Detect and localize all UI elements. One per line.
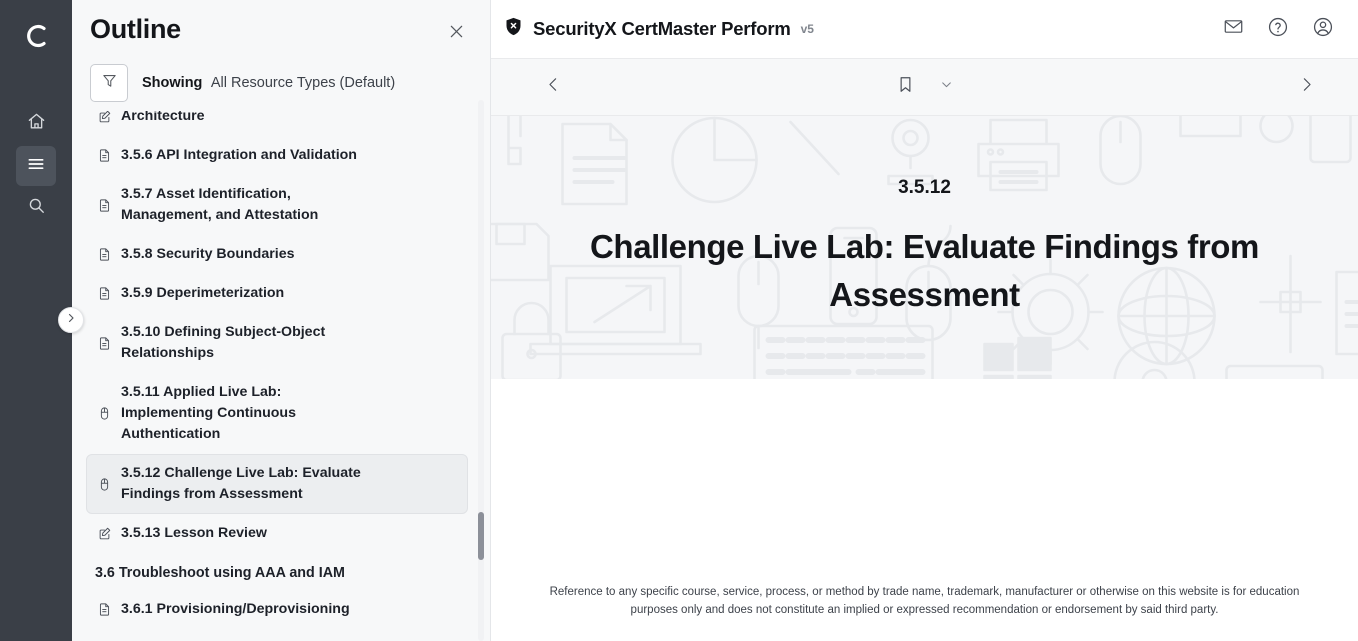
outline-scrollbar-thumb[interactable]	[478, 512, 484, 560]
lesson-title: Challenge Live Lab: Evaluate Findings fr…	[545, 223, 1305, 319]
list-item-label: 3.6.1 Provisioning/Deprovisioning	[121, 599, 350, 620]
mail-button[interactable]	[1220, 16, 1246, 42]
list-item[interactable]: 3.5.11 Applied Live Lab: Implementing Co…	[86, 373, 468, 454]
document-icon	[96, 198, 112, 213]
showing-value[interactable]: All Resource Types (Default)	[211, 75, 395, 91]
document-icon	[96, 148, 112, 163]
chevron-right-icon	[1298, 76, 1315, 98]
pencil-square-icon	[96, 526, 112, 541]
shield-x-icon	[503, 16, 524, 42]
user-account-icon	[1312, 16, 1334, 43]
list-item-label: Architecture	[121, 111, 205, 127]
filter-button[interactable]	[90, 64, 128, 102]
topbar-actions	[1220, 16, 1336, 42]
outline-panel: Outline Showing All Resource Typ	[72, 0, 491, 641]
close-icon	[447, 22, 466, 46]
panel-collapse-toggle[interactable]	[58, 307, 84, 333]
chevron-down-icon	[940, 78, 953, 96]
content-navbar	[491, 58, 1358, 116]
lesson-number: 3.5.12	[898, 177, 951, 199]
brand: SecurityX CertMaster Perform v5	[503, 16, 814, 42]
close-outline-button[interactable]	[442, 20, 470, 48]
footer-disclaimer: Reference to any specific course, servic…	[491, 583, 1358, 619]
previous-page-button[interactable]	[539, 73, 567, 101]
rail-item-search[interactable]	[16, 188, 56, 228]
chevron-right-icon	[65, 311, 77, 329]
app-root: Outline Showing All Resource Typ	[0, 0, 1358, 641]
lesson-hero-banner: 3.5.12 Challenge Live Lab: Evaluate Find…	[491, 116, 1358, 379]
list-item-label: 3.5.10 Defining Subject-Object Relations…	[121, 322, 376, 364]
list-item[interactable]: 3.5.10 Defining Subject-Object Relations…	[86, 313, 468, 373]
help-question-icon	[1267, 16, 1289, 43]
home-icon	[27, 112, 46, 136]
list-item-selected[interactable]: 3.5.12 Challenge Live Lab: Evaluate Find…	[86, 454, 468, 514]
bookmark-dropdown-button[interactable]	[937, 77, 957, 97]
document-icon	[96, 602, 112, 617]
hamburger-menu-icon	[26, 154, 46, 179]
page-title: Outline	[90, 14, 181, 45]
list-item-label: 3.5.7 Asset Identification, Management, …	[121, 184, 376, 226]
list-item-label: 3.5.6 API Integration and Validation	[121, 145, 357, 166]
showing-label: Showing	[142, 75, 202, 91]
comptia-c-logo[interactable]	[14, 14, 58, 58]
pencil-square-icon	[96, 111, 112, 124]
document-icon	[96, 247, 112, 262]
bookmark-icon	[896, 75, 915, 99]
list-item[interactable]: 3.5.9 Deperimeterization	[86, 274, 468, 313]
app-topbar: SecurityX CertMaster Perform v5	[491, 0, 1358, 58]
lesson-body: Reference to any specific course, servic…	[491, 379, 1358, 641]
bookmark-controls	[893, 74, 957, 100]
filter-row: Showing All Resource Types (Default)	[72, 48, 490, 102]
outline-section-header[interactable]: 3.6 Troubleshoot using AAA and IAM	[86, 553, 468, 590]
list-item[interactable]: 3.5.13 Lesson Review	[86, 514, 468, 553]
document-icon	[96, 336, 112, 351]
help-button[interactable]	[1265, 16, 1291, 42]
mouse-icon	[96, 477, 112, 492]
list-item[interactable]: 3.6.1 Provisioning/Deprovisioning	[86, 590, 468, 629]
product-version: v5	[801, 22, 814, 36]
list-item-label: 3.5.13 Lesson Review	[121, 523, 267, 544]
list-item[interactable]: 3.5.7 Asset Identification, Management, …	[86, 175, 468, 235]
chevron-left-icon	[545, 76, 562, 98]
rail-item-home[interactable]	[16, 104, 56, 144]
list-item-label: 3.5.12 Challenge Live Lab: Evaluate Find…	[121, 463, 376, 505]
filter-funnel-icon	[101, 72, 118, 94]
search-icon	[27, 196, 46, 220]
showing-row: Showing All Resource Types (Default)	[142, 74, 395, 92]
list-item-label: 3.5.8 Security Boundaries	[121, 244, 294, 265]
list-item[interactable]: 3.5.8 Security Boundaries	[86, 235, 468, 274]
outline-header: Outline	[72, 0, 490, 48]
outline-tree[interactable]: Architecture 3.5.6 API Integration and V…	[72, 111, 490, 641]
rail-item-outline[interactable]	[16, 146, 56, 186]
list-item[interactable]: Architecture	[86, 111, 468, 136]
main-content: SecurityX CertMaster Perform v5	[491, 0, 1358, 641]
list-item-label: 3.5.9 Deperimeterization	[121, 283, 284, 304]
document-icon	[96, 286, 112, 301]
next-page-button[interactable]	[1292, 73, 1320, 101]
product-name: SecurityX CertMaster Perform	[533, 18, 791, 40]
list-item-label: 3.5.11 Applied Live Lab: Implementing Co…	[121, 382, 376, 445]
mail-icon	[1223, 16, 1244, 42]
bookmark-button[interactable]	[893, 74, 919, 100]
user-account-button[interactable]	[1310, 16, 1336, 42]
mouse-icon	[96, 406, 112, 421]
list-item[interactable]: 3.5.6 API Integration and Validation	[86, 136, 468, 175]
